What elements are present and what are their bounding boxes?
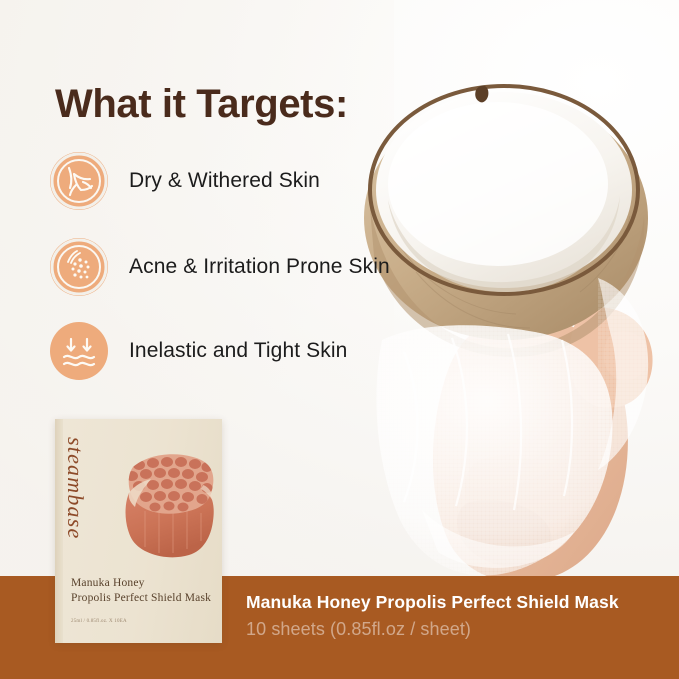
sagging-skin-arrows-icon	[50, 322, 108, 380]
benefit-item-inelastic: Inelastic and Tight Skin	[50, 322, 347, 380]
box-volume-fineprint: 25ml / 0.85fl.oz. X 10EA	[71, 619, 127, 624]
acne-blemish-dots-icon	[50, 238, 108, 296]
benefit-item-acne: Acne & Irritation Prone Skin	[50, 238, 390, 296]
honeycomb-illustration	[117, 441, 219, 561]
hero-photo-hand-coconut	[330, 40, 679, 580]
box-title-line-2: Propolis Perfect Shield Mask	[71, 591, 216, 606]
benefit-item-dry-skin: Dry & Withered Skin	[50, 152, 320, 210]
benefit-label-dry-skin: Dry & Withered Skin	[129, 169, 320, 193]
box-spine	[55, 419, 63, 643]
banner-product-quantity: 10 sheets (0.85fl.oz / sheet)	[246, 619, 471, 640]
product-package-box: Manuka Honey Propolis Perfect Shield Mas…	[55, 419, 222, 643]
banner-product-name: Manuka Honey Propolis Perfect Shield Mas…	[246, 592, 619, 613]
benefit-label-acne: Acne & Irritation Prone Skin	[129, 255, 390, 279]
product-marketing-image: What it Targets: Dry & Withered Skin	[0, 0, 679, 679]
box-title-line-1: Manuka Honey	[71, 576, 216, 591]
page-title: What it Targets:	[55, 84, 348, 124]
box-product-title: Manuka Honey Propolis Perfect Shield Mas…	[71, 576, 216, 606]
benefit-label-inelastic: Inelastic and Tight Skin	[129, 339, 347, 363]
dry-cracked-skin-icon	[50, 152, 108, 210]
